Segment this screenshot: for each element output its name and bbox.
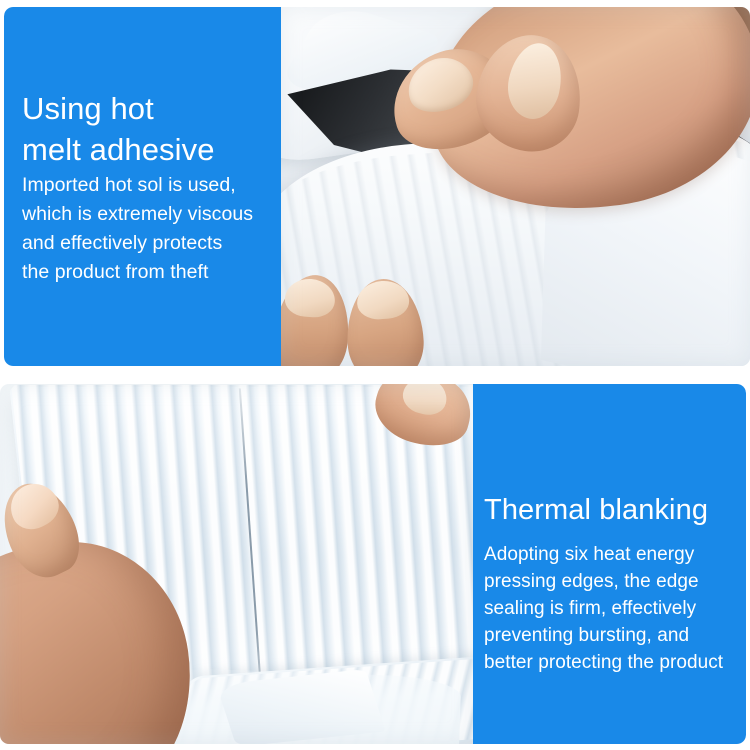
panel-title-hot-melt-adhesive: Using hot melt adhesive	[22, 88, 272, 170]
hand-holding-ribbed-sealed-mailer-photo	[0, 384, 473, 744]
feature-panel-thermal-blanking: Thermal blanking Adopting six heat energ…	[0, 384, 746, 744]
hand-peeling-adhesive-seal-photo	[281, 7, 750, 366]
panel-body-thermal-blanking: Adopting six heat energy pressing edges,…	[484, 541, 746, 676]
panel-body-hot-melt-adhesive: Imported hot sol is used, which is extre…	[22, 171, 280, 287]
panel-title-thermal-blanking: Thermal blanking	[484, 490, 746, 531]
feature-panel-hot-melt-adhesive: Using hot melt adhesive Imported hot sol…	[4, 7, 750, 366]
product-feature-infographic: Using hot melt adhesive Imported hot sol…	[0, 0, 750, 750]
